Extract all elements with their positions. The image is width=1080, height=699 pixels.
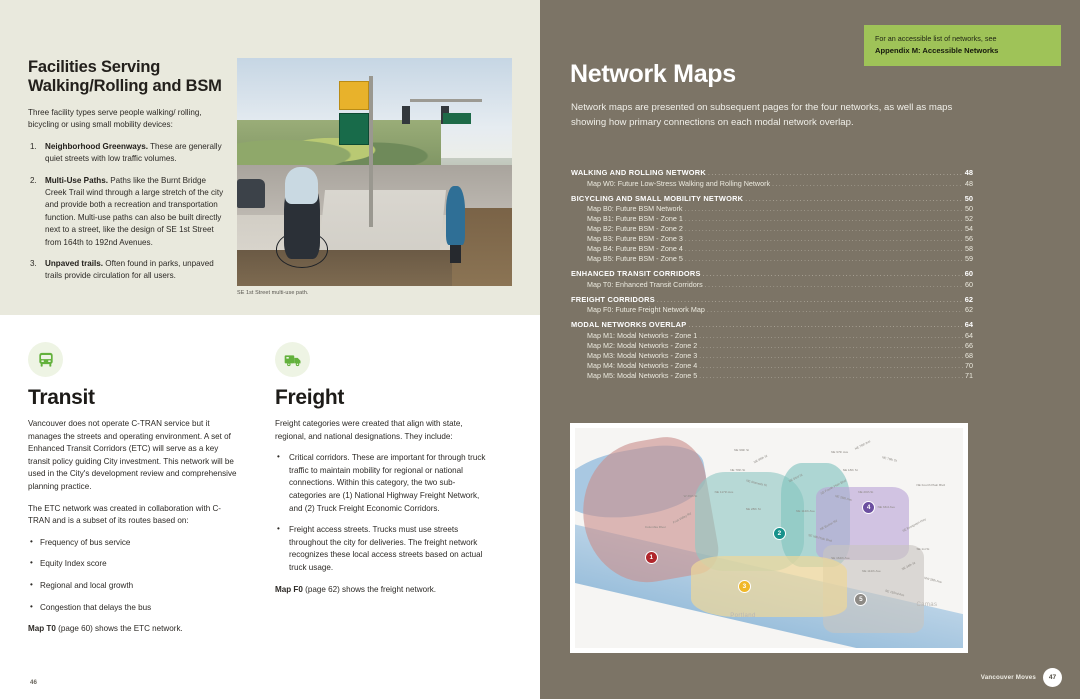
- toc-page-number: 71: [965, 371, 973, 380]
- list-item: Equity Index score: [28, 558, 241, 571]
- map-street-label: NE 20th St: [858, 490, 873, 494]
- list-item-number: 3.: [30, 258, 37, 270]
- freight-paragraph-1: Freight categories were created that ali…: [275, 418, 488, 443]
- page-spread: Facilities Serving Walking/Rolling and B…: [0, 0, 1080, 699]
- map-street-label: SE 1st St: [916, 547, 929, 551]
- map-zone-marker-1[interactable]: 1: [645, 551, 658, 564]
- transit-map-reference: Map T0 (page 60) shows the ETC network.: [28, 623, 241, 636]
- toc-page-number: 66: [965, 341, 973, 350]
- facilities-section: Facilities Serving Walking/Rolling and B…: [28, 58, 228, 292]
- map-street-label: SE Evergreen Hwy: [901, 517, 926, 533]
- toc-leader-dots: ........................................…: [699, 344, 963, 351]
- toc-leader-dots: ........................................…: [707, 308, 963, 315]
- map-street-label: NE 28th Ave: [835, 494, 853, 502]
- toc-page-number: 56: [965, 234, 973, 243]
- toc-label: Map M4: Modal Networks - Zone 4: [587, 361, 697, 370]
- toc-entry-row[interactable]: Map B1: Future BSM - Zone 1.............…: [571, 214, 973, 224]
- map-street-label: NE 112th Ave: [862, 569, 881, 573]
- callout-line-2[interactable]: Appendix M: Accessible Networks: [875, 45, 1050, 56]
- list-item-number: 2.: [30, 175, 37, 187]
- transit-criteria-list: Frequency of bus service Equity Index sc…: [28, 537, 241, 614]
- toc-label: Map W0: Future Low-Stress Walking and Ro…: [587, 179, 770, 188]
- map-street-label: SE Mill Plain Blvd: [808, 533, 832, 543]
- list-item-text: Paths like the Burnt Bridge Creek Trail …: [45, 176, 223, 247]
- map-street-label: NE 78th St: [730, 468, 745, 472]
- network-maps-intro: Network maps are presented on subsequent…: [571, 100, 981, 131]
- photo-sign-pole: [369, 76, 373, 226]
- list-item: 1.Neighborhood Greenways. These are gene…: [28, 141, 228, 166]
- toc-label: Map B3: Future BSM - Zone 3: [587, 234, 683, 243]
- facilities-list: 1.Neighborhood Greenways. These are gene…: [28, 141, 228, 283]
- toc-leader-dots: ........................................…: [699, 364, 963, 371]
- toc-leader-dots: ........................................…: [772, 182, 963, 189]
- toc-page-number: 62: [965, 295, 973, 304]
- toc-label: Map M3: Modal Networks - Zone 3: [587, 351, 697, 360]
- toc-label: Map M2: Modal Networks - Zone 2: [587, 341, 697, 350]
- toc-entry-row[interactable]: Map M2: Modal Networks - Zone 2.........…: [571, 341, 973, 351]
- toc-leader-dots: ........................................…: [745, 197, 962, 204]
- map-street-label: NE 117th Ave: [715, 490, 734, 494]
- toc-page-number: 52: [965, 214, 973, 223]
- photo-caption: SE 1st Street multi-use path.: [237, 290, 512, 296]
- toc-page-number: 70: [965, 361, 973, 370]
- toc-label: BICYCLING AND SMALL MOBILITY NETWORK: [571, 194, 743, 203]
- map-street-label: NE Alameda St: [746, 478, 767, 487]
- facilities-title-line2: Walking/Rolling and BSM: [28, 77, 222, 95]
- transit-map-code: Map T0: [28, 624, 56, 633]
- map-street-label: SE 192nd Ave: [885, 588, 905, 597]
- toc-leader-dots: ........................................…: [685, 237, 963, 244]
- toc-label: Map F0: Future Freight Network Map: [587, 305, 705, 314]
- toc-heading-row[interactable]: WALKING AND ROLLING NETWORK.............…: [571, 168, 973, 178]
- map-street-label: SE 34th St: [901, 561, 916, 571]
- toc-leader-dots: ........................................…: [685, 227, 963, 234]
- list-item: Frequency of bus service: [28, 537, 241, 550]
- map-zone-marker-4[interactable]: 4: [862, 501, 875, 514]
- transit-section: Transit Vancouver does not operate C-TRA…: [28, 342, 241, 636]
- multi-use-path-photo: [237, 58, 512, 286]
- toc-label: MODAL NETWORKS OVERLAP: [571, 320, 686, 329]
- toc-entry-row[interactable]: Map M3: Modal Networks - Zone 3.........…: [571, 351, 973, 361]
- toc-page-number: 48: [965, 168, 973, 177]
- table-of-contents: WALKING AND ROLLING NETWORK.............…: [571, 168, 973, 381]
- toc-heading-row[interactable]: ENHANCED TRANSIT CORRIDORS..............…: [571, 269, 973, 279]
- freight-section: Freight Freight categories were created …: [275, 342, 488, 596]
- toc-entry-row[interactable]: Map B4: Future BSM - Zone 4.............…: [571, 244, 973, 254]
- toc-page-number: 60: [965, 269, 973, 278]
- list-item-term: Neighborhood Greenways.: [45, 142, 148, 151]
- toc-leader-dots: ........................................…: [685, 257, 963, 264]
- transit-title: Transit: [28, 386, 241, 409]
- list-item: Congestion that delays the bus: [28, 602, 241, 615]
- toc-entry-row[interactable]: Map T0: Enhanced Transit Corridors......…: [571, 280, 973, 290]
- toc-leader-dots: ........................................…: [703, 272, 963, 279]
- map-street-label: NE 18th St: [843, 468, 858, 472]
- toc-entry-row[interactable]: Map W0: Future Low-Stress Walking and Ro…: [571, 179, 973, 189]
- left-page-number: 46: [30, 679, 37, 686]
- toc-leader-dots: ........................................…: [708, 171, 963, 178]
- map-street-label: NE 33rd Ave: [878, 505, 895, 509]
- toc-page-number: 64: [965, 320, 973, 329]
- toc-page-number: 68: [965, 351, 973, 360]
- photo-block: SE 1st Street multi-use path.: [237, 58, 512, 296]
- map-street-label: W 39th St: [684, 494, 698, 498]
- toc-heading-row[interactable]: MODAL NETWORKS OVERLAP..................…: [571, 320, 973, 330]
- map-street-label: Fruit Valley Rd: [672, 512, 692, 525]
- toc-leader-dots: ........................................…: [699, 334, 963, 341]
- transit-paragraph-2: The ETC network was created in collabora…: [28, 503, 241, 528]
- toc-page-number: 58: [965, 244, 973, 253]
- toc-entry-row[interactable]: Map F0: Future Freight Network Map......…: [571, 305, 973, 315]
- toc-page-number: 62: [965, 305, 973, 314]
- toc-label: WALKING AND ROLLING NETWORK: [571, 168, 706, 177]
- photo-signal-mast-arm: [410, 99, 482, 102]
- list-item: Critical corridors. These are important …: [275, 452, 488, 515]
- map-street-label: NE Fourth Plain Blvd: [916, 483, 945, 487]
- toc-leader-dots: ........................................…: [705, 283, 963, 290]
- toc-entry-row[interactable]: Map B2: Future BSM - Zone 2.............…: [571, 224, 973, 234]
- map-street-label: NE 28th St: [746, 507, 761, 511]
- map-street-label: SE 164th Ave: [831, 556, 850, 560]
- toc-label: Map M1: Modal Networks - Zone 1: [587, 331, 697, 340]
- toc-label: FREIGHT CORRIDORS: [571, 295, 655, 304]
- toc-leader-dots: ........................................…: [684, 207, 963, 214]
- facilities-intro: Three facility types serve people walkin…: [28, 107, 228, 132]
- toc-page-number: 50: [965, 204, 973, 213]
- right-page-number: 47: [1043, 668, 1062, 687]
- photo-cyclist-torso: [285, 167, 318, 203]
- photo-guide-sign: [339, 113, 369, 145]
- truck-icon: [275, 342, 310, 377]
- freight-title: Freight: [275, 386, 488, 409]
- toc-label: Map B5: Future BSM - Zone 5: [587, 254, 683, 263]
- map-zone-marker-3[interactable]: 3: [738, 580, 751, 593]
- toc-entry-row[interactable]: Map B0: Future BSM Network..............…: [571, 204, 973, 214]
- facilities-title: Facilities Serving Walking/Rolling and B…: [28, 58, 228, 96]
- freight-map-reference: Map F0 (page 62) shows the freight netwo…: [275, 584, 488, 597]
- toc-label: Map B1: Future BSM - Zone 1: [587, 214, 683, 223]
- freight-map-reference-text: (page 62) shows the freight network.: [303, 585, 436, 594]
- list-item-term: Multi-Use Paths.: [45, 176, 108, 185]
- list-item-term: Unpaved trails.: [45, 259, 103, 268]
- photo-pedestrian: [446, 186, 465, 245]
- toc-heading-row[interactable]: BICYCLING AND SMALL MOBILITY NETWORK....…: [571, 194, 973, 204]
- map-street-label: Columbia River: [645, 525, 666, 529]
- toc-leader-dots: ........................................…: [685, 247, 963, 254]
- accessible-networks-callout: For an accessible list of networks, see …: [864, 25, 1061, 66]
- map-street-label: NE 63rd St: [788, 473, 803, 484]
- page-title: Network Maps: [570, 60, 736, 89]
- toc-label: Map B2: Future BSM - Zone 2: [587, 224, 683, 233]
- map-street-label: NE 70th St: [881, 455, 896, 463]
- map-street-labels: NE 99th StNE 88th StNE 78th StNE Alameda…: [575, 428, 963, 648]
- zone-overview-map[interactable]: NE 99th StNE 88th StNE 78th StNE Alameda…: [570, 423, 968, 653]
- toc-page-number: 59: [965, 254, 973, 263]
- toc-entry-row[interactable]: Map B5: Future BSM - Zone 5.............…: [571, 254, 973, 264]
- list-item: Regional and local growth: [28, 580, 241, 593]
- map-street-label: NE Burton Rd: [820, 518, 839, 530]
- toc-label: Map T0: Enhanced Transit Corridors: [587, 280, 703, 289]
- toc-page-number: 60: [965, 280, 973, 289]
- photo-car: [237, 179, 265, 209]
- toc-label: Map B0: Future BSM Network: [587, 204, 682, 213]
- toc-entry-row[interactable]: Map B3: Future BSM - Zone 3.............…: [571, 234, 973, 244]
- toc-page-number: 54: [965, 224, 973, 233]
- toc-label: Map M5: Modal Networks - Zone 5: [587, 371, 697, 380]
- freight-categories-list: Critical corridors. These are important …: [275, 452, 488, 574]
- map-street-label: NE 76th Ave: [854, 440, 871, 452]
- toc-leader-dots: ........................................…: [685, 217, 963, 224]
- list-item: 3.Unpaved trails. Often found in parks, …: [28, 258, 228, 283]
- toc-leader-dots: ........................................…: [688, 323, 962, 330]
- freight-map-code: Map F0: [275, 585, 303, 594]
- map-street-label: NE 88th St: [753, 453, 768, 464]
- map-street-label: NE 99th St: [734, 448, 749, 452]
- toc-leader-dots: ........................................…: [699, 354, 963, 361]
- map-street-label: NW 28th Ave: [924, 575, 942, 583]
- left-page: Facilities Serving Walking/Rolling and B…: [0, 0, 540, 699]
- map-city-label-portland: Portland: [730, 613, 756, 619]
- toc-leader-dots: ........................................…: [699, 374, 963, 381]
- map-street-label: NE 97th Ave: [831, 450, 848, 454]
- map-street-label: SE Fourth Plain Blvd: [820, 479, 847, 496]
- facilities-title-line1: Facilities Serving: [28, 58, 160, 76]
- toc-entry-row[interactable]: Map M5: Modal Networks - Zone 5.........…: [571, 371, 973, 381]
- toc-label: ENHANCED TRANSIT CORRIDORS: [571, 269, 701, 278]
- toc-leader-dots: ........................................…: [657, 298, 963, 305]
- toc-page-number: 48: [965, 179, 973, 188]
- transit-paragraph-1: Vancouver does not operate C-TRAN servic…: [28, 418, 241, 494]
- toc-entry-row[interactable]: Map M4: Modal Networks - Zone 4.........…: [571, 361, 973, 371]
- photo-street-name-sign: [443, 113, 471, 124]
- photo-warning-sign: [339, 81, 369, 111]
- right-page-footer: Vancouver Moves 47: [981, 668, 1062, 687]
- list-item-number: 1.: [30, 141, 37, 153]
- toc-heading-row[interactable]: FREIGHT CORRIDORS.......................…: [571, 295, 973, 305]
- toc-page-number: 64: [965, 331, 973, 340]
- map-street-label: NE 112th Ave: [796, 509, 815, 513]
- callout-line-1: For an accessible list of networks, see: [875, 34, 1050, 45]
- photo-traffic-signal: [402, 106, 410, 124]
- toc-label: Map B4: Future BSM - Zone 4: [587, 244, 683, 253]
- toc-entry-row[interactable]: Map M1: Modal Networks - Zone 1.........…: [571, 331, 973, 341]
- bus-icon: [28, 342, 63, 377]
- map-canvas: NE 99th StNE 88th StNE 78th StNE Alameda…: [575, 428, 963, 648]
- toc-page-number: 50: [965, 194, 973, 203]
- book-title: Vancouver Moves: [981, 674, 1036, 681]
- map-city-label-camas: Camas: [916, 602, 937, 608]
- list-item: 2.Multi-Use Paths. Paths like the Burnt …: [28, 175, 228, 249]
- transit-map-reference-text: (page 60) shows the ETC network.: [56, 624, 183, 633]
- list-item: Freight access streets. Trucks must use …: [275, 524, 488, 574]
- map-zone-marker-2[interactable]: 2: [773, 527, 786, 540]
